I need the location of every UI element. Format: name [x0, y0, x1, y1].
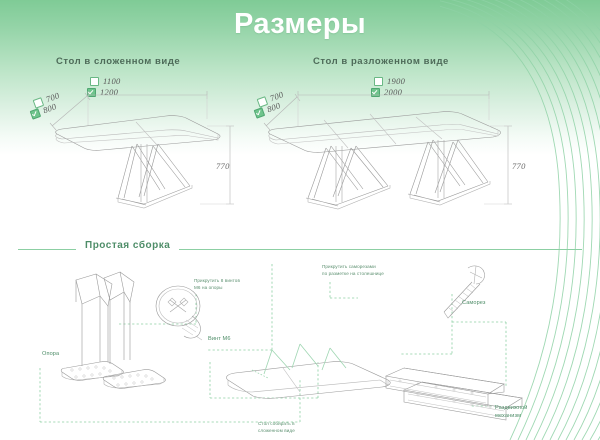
assembly-section-title: Простая сборка: [76, 240, 179, 251]
label-mechanism-line1: Раздвижной: [495, 404, 527, 412]
section-title-folded: Стол в сложенном виде: [56, 56, 180, 67]
folded-height-value: 770: [216, 161, 230, 171]
note-screws: Прикрутить саморезами по разметке на сто…: [322, 264, 384, 278]
folded-width-option-0[interactable]: 1100: [90, 76, 121, 86]
unfolded-height-value: 770: [512, 161, 526, 171]
unfolded-width-option-0[interactable]: 1900: [374, 76, 405, 86]
note-assemble-line2: сложенном виде: [258, 428, 295, 435]
note-bolts-line2: М6 на опоры: [194, 285, 240, 292]
option-value: 1900: [387, 76, 405, 86]
note-assemble-line1: Стол собирать в: [258, 421, 295, 428]
section-title-unfolded: Стол в разложенном виде: [313, 56, 449, 67]
checkbox-unchecked[interactable]: [374, 77, 383, 86]
label-screw: Саморез: [462, 299, 486, 307]
label-support: Опора: [42, 350, 59, 358]
option-value: 1100: [103, 76, 121, 86]
page-title: Размеры: [0, 8, 600, 41]
note-assemble: Стол собирать в сложенном виде: [258, 421, 295, 435]
note-screws-line1: Прикрутить саморезами: [322, 264, 384, 271]
label-mechanism: Раздвижной механизм: [495, 404, 527, 421]
label-bolt: Винт М6: [208, 335, 231, 343]
checkbox-unchecked[interactable]: [90, 77, 99, 86]
folded-table-drawing: [40, 86, 250, 211]
note-screws-line2: по разметке на столешнице: [322, 271, 384, 278]
label-mechanism-line2: механизм: [495, 412, 527, 420]
unfolded-table-drawing: [262, 86, 522, 211]
note-bolts-line1: Прикрутить 8 винтов: [194, 278, 240, 285]
note-bolts: Прикрутить 8 винтов М6 на опоры: [194, 278, 240, 292]
infographic-page: Размеры Стол в сложенном виде 1100 1200: [0, 0, 600, 440]
